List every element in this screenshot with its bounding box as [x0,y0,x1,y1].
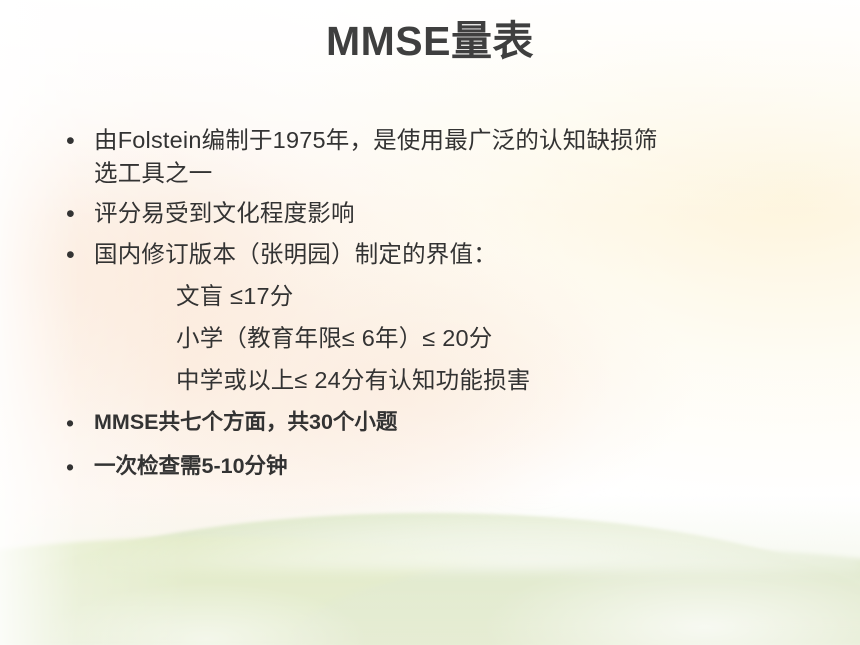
presentation-slide: MMSE量表 • 由Folstein编制于1975年，是使用最广泛的认知缺损筛 … [0,0,860,645]
cutoff-line-illiterate: 文盲 ≤17分 [176,280,826,313]
bullet-text-duration: 一次检查需5-10分钟 [94,451,826,482]
bullet-text-origin: 由Folstein编制于1975年，是使用最广泛的认知缺损筛 选工具之一 [94,124,826,191]
bullet-marker-icon: • [66,238,94,274]
bullet-text-sections: MMSE共七个方面，共30个小题 [94,407,826,438]
bullet-marker-icon: • [66,451,94,484]
bullet-marker-icon: • [66,407,94,440]
cutoff-line-primary: 小学（教育年限≤ 6年）≤ 20分 [176,322,826,355]
slide-title: MMSE量表 [0,18,860,65]
bullet-text-origin-line1: 由Folstein编制于1975年，是使用最广泛的认知缺损筛 [94,124,826,157]
bullet-item-origin: • 由Folstein编制于1975年，是使用最广泛的认知缺损筛 选工具之一 [66,124,826,191]
bullet-marker-icon: • [66,197,94,233]
bullet-text-cutoff: 国内修订版本（张明园）制定的界值： [94,238,826,271]
bullet-item-duration: • 一次检查需5-10分钟 [66,451,826,484]
bullet-marker-icon: • [66,124,94,160]
cutoff-line-secondary: 中学或以上≤ 24分有认知功能损害 [176,364,826,397]
bullet-item-cutoff: • 国内修订版本（张明园）制定的界值： [66,238,826,274]
bullet-item-sections: • MMSE共七个方面，共30个小题 [66,407,826,440]
bullet-item-culture: • 评分易受到文化程度影响 [66,197,826,233]
slide-content: MMSE量表 • 由Folstein编制于1975年，是使用最广泛的认知缺损筛 … [0,0,860,645]
bullet-text-origin-line2: 选工具之一 [94,157,826,190]
bullet-text-culture: 评分易受到文化程度影响 [94,197,826,230]
slide-body-list: • 由Folstein编制于1975年，是使用最广泛的认知缺损筛 选工具之一 •… [66,124,826,496]
